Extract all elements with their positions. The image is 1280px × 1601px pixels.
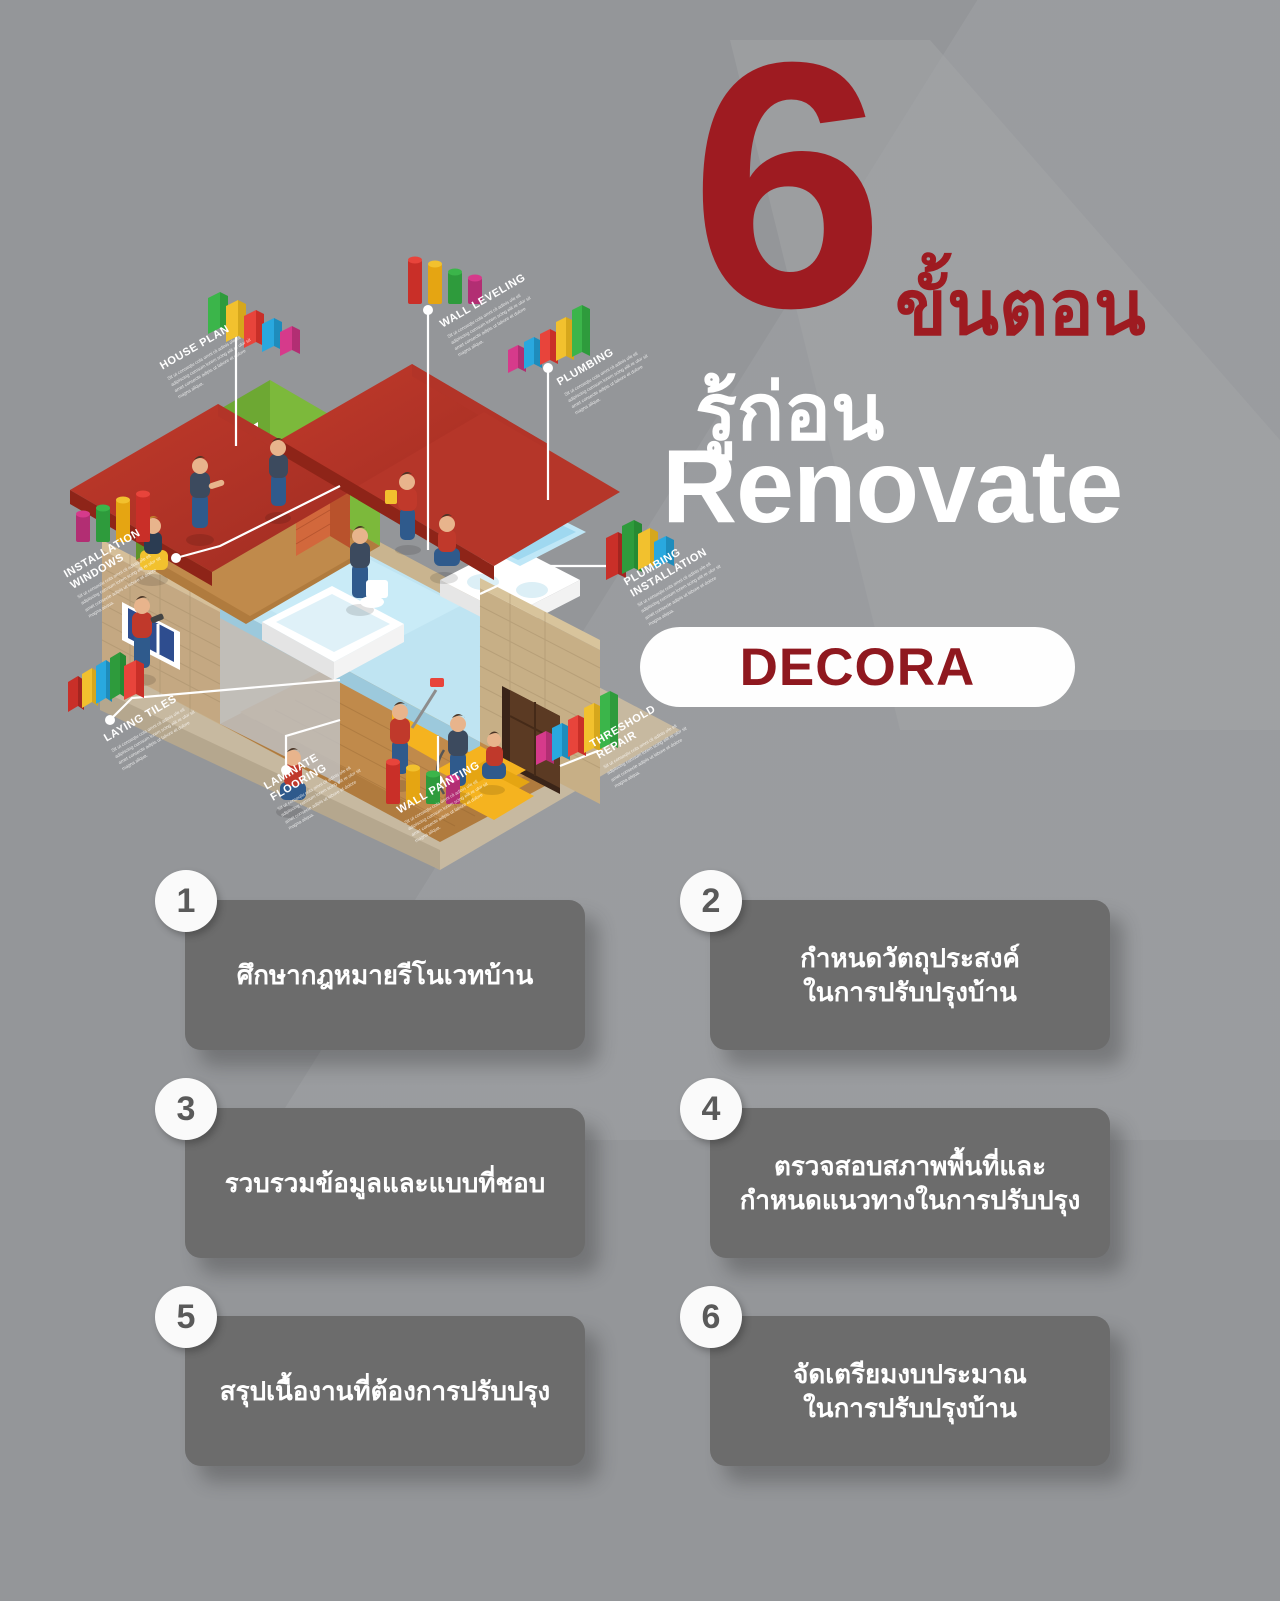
step-card-body[interactable]: สรุปเนื้องานที่ต้องการปรับปรุง	[185, 1316, 585, 1466]
mini-bar-cluster-wall-leveling	[408, 257, 482, 305]
step-card-text: กำหนดวัตถุประสงค์ ในการปรับปรุงบ้าน	[800, 941, 1020, 1010]
callout-plumbing-installation: PLUMBING INSTALLATION Sit ut conseqtu co…	[622, 578, 714, 635]
step-card-text: ศึกษากฎหมายรีโนเวทบ้าน	[237, 958, 534, 992]
hero-thai-step: ขั้นตอน	[895, 248, 1146, 368]
callout-installation-windows: INSTALLATION WINDOWS Sit ut conseqtu col…	[62, 570, 154, 627]
callout-laying-tiles: LAYING TILES Sit ut conseqtu cola omni c…	[102, 734, 194, 778]
callout-threshold-repair: THRESHOLD REPAIR Sit ut conseqtu cola om…	[588, 740, 680, 797]
callout-wall-leveling: WALL LEVELING Sit ut conseqtu cola omni …	[438, 320, 535, 364]
step-number-badge: 1	[155, 870, 217, 932]
step-card-text: ตรวจสอบสภาพพื้นที่และ กำหนดแนวทางในการปร…	[740, 1149, 1081, 1218]
house-illustration: HOUSE PLAN Sit ut conseqtu cola omni cli…	[40, 250, 740, 870]
callout-wall-painting: WALL PAINTING Sit ut conseqtu cola omni …	[395, 806, 489, 850]
brand-badge-label: DECORA	[740, 637, 976, 698]
step-card-body[interactable]: ตรวจสอบสภาพพื้นที่และ กำหนดแนวทางในการปร…	[710, 1108, 1110, 1258]
steps-grid: ศึกษากฎหมายรีโนเวทบ้าน 1 กำหนดวัตถุประสง…	[0, 860, 1280, 1560]
callout-plumbing: PLUMBING Sit ut conseqtu cola omni cli a…	[555, 378, 647, 422]
step-number-badge: 6	[680, 1286, 742, 1348]
step-card-body[interactable]: กำหนดวัตถุประสงค์ ในการปรับปรุงบ้าน	[710, 900, 1110, 1050]
step-card-body[interactable]: รวบรวมข้อมูลและแบบที่ชอบ	[185, 1108, 585, 1258]
infographic-canvas: 6 ขั้นตอน รู้ก่อน Renovate DECORA	[0, 0, 1280, 1601]
step-card-text: สรุปเนื้องานที่ต้องการปรับปรุง	[220, 1374, 550, 1408]
step-card-text: รวบรวมข้อมูลและแบบที่ชอบ	[225, 1166, 546, 1200]
step-number-badge: 2	[680, 870, 742, 932]
step-card-body[interactable]: จัดเตรียมงบประมาณ ในการปรับปรุงบ้าน	[710, 1316, 1110, 1466]
step-number-badge: 3	[155, 1078, 217, 1140]
step-card-text: จัดเตรียมงบประมาณ ในการปรับปรุงบ้าน	[793, 1357, 1027, 1426]
step-number-badge: 4	[680, 1078, 742, 1140]
step-number-badge: 5	[155, 1286, 217, 1348]
callout-house-plan: HOUSE PLAN Sit ut conseqtu cola omni cli…	[158, 362, 250, 406]
callout-laminate-flooring: LAMINATE FLOORING Sit ut conseqtu cola o…	[262, 782, 354, 839]
step-card-body[interactable]: ศึกษากฎหมายรีโนเวทบ้าน	[185, 900, 585, 1050]
